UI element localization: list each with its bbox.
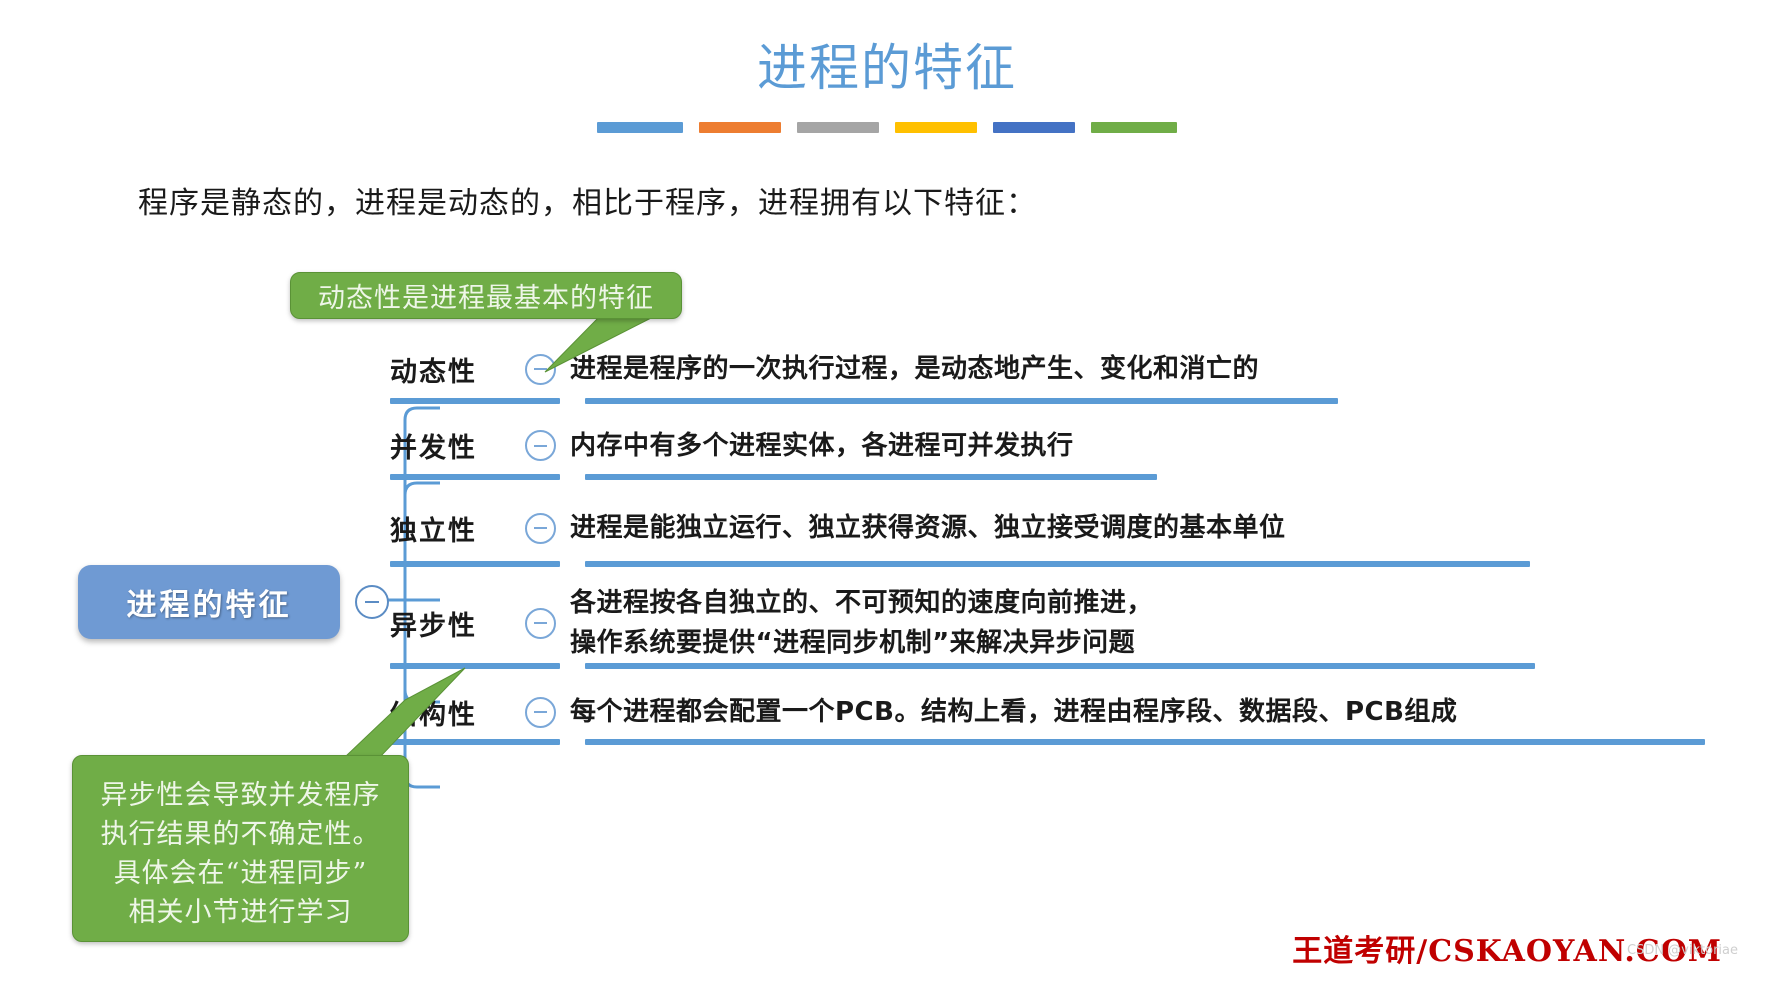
row-description: 内存中有多个进程实体，各进程可并发执行 [570, 426, 1074, 466]
accent-bar-green [1091, 122, 1177, 133]
row-underline-desc [585, 398, 1338, 404]
accent-bar-yellow [895, 122, 977, 133]
mindmap-row-bingfaxing[interactable]: 并发性 内存中有多个进程实体，各进程可并发执行 [390, 408, 1730, 483]
mindmap-row-dulixing[interactable]: 独立性 进程是能独立运行、独立获得资源、独立接受调度的基本单位 [390, 483, 1730, 573]
accent-bar-orange [699, 122, 781, 133]
row-label: 独立性 [390, 509, 510, 548]
accent-bar-group [597, 122, 1177, 133]
accent-bar-blue [597, 122, 683, 133]
watermark: CSDN @viktoriae [1627, 943, 1738, 958]
row-underline-desc [585, 739, 1705, 745]
mindmap-root-label: 进程的特征 [127, 580, 292, 624]
row-underline-label [390, 474, 560, 480]
row-label: 动态性 [390, 350, 510, 389]
minus-circle-icon[interactable] [510, 354, 570, 385]
minus-circle-icon[interactable] [510, 430, 570, 461]
slide: 进程的特征 程序是静态的，进程是动态的，相比于程序，进程拥有以下特征： 进程的特… [0, 0, 1774, 988]
row-underline-label [390, 398, 560, 404]
page-title: 进程的特征 [0, 28, 1774, 100]
row-description: 进程是能独立运行、独立获得资源、独立接受调度的基本单位 [570, 508, 1286, 548]
mindmap-row-yibuxing[interactable]: 异步性 各进程按各自独立的、不可预知的速度向前推进， 操作系统要提供“进程同步机… [390, 573, 1730, 673]
accent-bar-gray [797, 122, 879, 133]
mindmap-row-dongtaixing[interactable]: 动态性 进程是程序的一次执行过程，是动态地产生、变化和消亡的 [390, 330, 1730, 408]
row-underline-label [390, 561, 560, 567]
row-description: 各进程按各自独立的、不可预知的速度向前推进， 操作系统要提供“进程同步机制”来解… [570, 583, 1153, 663]
row-label: 异步性 [390, 604, 510, 643]
minus-circle-icon[interactable] [510, 513, 570, 544]
row-underline-label [390, 663, 560, 669]
lead-paragraph: 程序是静态的，进程是动态的，相比于程序，进程拥有以下特征： [138, 178, 1037, 222]
accent-bar-darkblue [993, 122, 1075, 133]
mindmap-row-jiegouxing[interactable]: 结构性 每个进程都会配置一个PCB。结构上看，进程由程序段、数据段、PCB组成 [390, 673, 1730, 751]
row-description: 进程是程序的一次执行过程，是动态地产生、变化和消亡的 [570, 349, 1259, 389]
callout-top-text: 动态性是进程最基本的特征 [318, 276, 654, 315]
callout-bottom: 异步性会导致并发程序 执行结果的不确定性。 具体会在“进程同步” 相关小节进行学… [72, 755, 409, 942]
row-underline-desc [585, 663, 1535, 669]
row-label: 结构性 [390, 693, 510, 732]
callout-bottom-text: 异步性会导致并发程序 执行结果的不确定性。 具体会在“进程同步” 相关小节进行学… [101, 776, 381, 932]
minus-circle-icon-root[interactable] [355, 585, 389, 619]
row-description: 每个进程都会配置一个PCB。结构上看，进程由程序段、数据段、PCB组成 [570, 692, 1457, 732]
callout-top: 动态性是进程最基本的特征 [290, 272, 682, 319]
minus-circle-icon[interactable] [510, 697, 570, 728]
row-underline-desc [585, 561, 1530, 567]
mindmap-root-node[interactable]: 进程的特征 [78, 565, 340, 639]
row-underline-label [390, 739, 560, 745]
mindmap-rows: 动态性 进程是程序的一次执行过程，是动态地产生、变化和消亡的 并发性 内存中有多… [390, 330, 1730, 751]
row-label: 并发性 [390, 426, 510, 465]
minus-circle-icon[interactable] [510, 608, 570, 639]
row-underline-desc [585, 474, 1157, 480]
